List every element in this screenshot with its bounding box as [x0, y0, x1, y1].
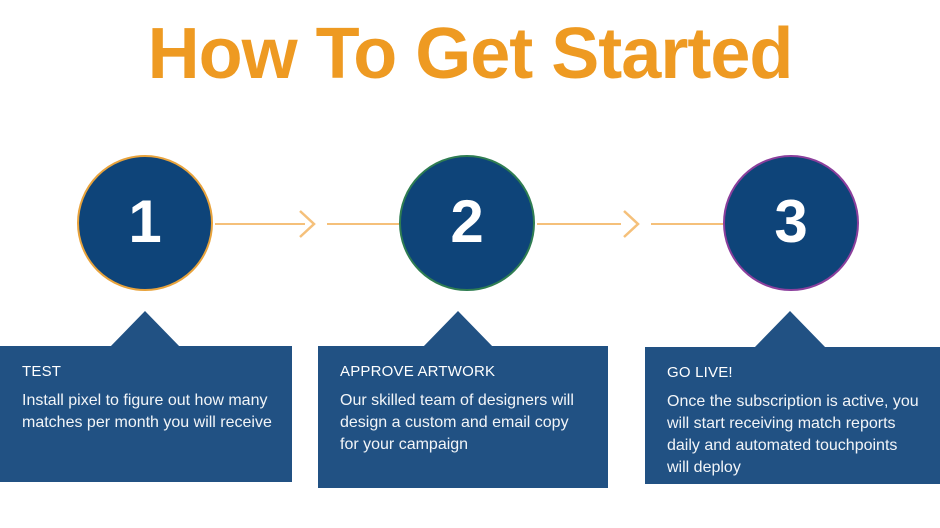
step-circle-1: 1 [77, 155, 213, 291]
how-to-get-started-infographic: How To Get Started 1 2 3 TEST Install pi… [0, 0, 940, 528]
step-card-2-body: Our skilled team of designers will desig… [340, 390, 588, 456]
connector-line-2a [537, 223, 621, 225]
callout-pointer-3 [754, 311, 826, 348]
step-card-3-heading: GO LIVE! [667, 363, 920, 383]
step-card-3: GO LIVE! Once the subscription is active… [645, 347, 940, 484]
step-card-1-heading: TEST [22, 362, 272, 382]
connector-line-1b [327, 223, 399, 225]
chevron-right-icon-1 [296, 208, 318, 240]
callout-pointer-2 [422, 311, 494, 348]
step-card-2-heading: APPROVE ARTWORK [340, 362, 588, 382]
step-circle-3: 3 [723, 155, 859, 291]
connector-line-1a [215, 223, 305, 225]
step-card-2: APPROVE ARTWORK Our skilled team of desi… [318, 346, 608, 488]
step-number-2: 2 [450, 192, 483, 252]
step-number-1: 1 [128, 192, 161, 252]
step-card-3-body: Once the subscription is active, you wil… [667, 391, 920, 479]
connector-line-2b [651, 223, 725, 225]
step-number-3: 3 [774, 192, 807, 252]
step-circle-2: 2 [399, 155, 535, 291]
page-title: How To Get Started [0, 10, 940, 98]
callout-pointer-1 [109, 311, 181, 348]
step-card-1: TEST Install pixel to figure out how man… [0, 346, 292, 482]
step-card-1-body: Install pixel to figure out how many mat… [22, 390, 272, 434]
chevron-right-icon-2 [620, 208, 642, 240]
